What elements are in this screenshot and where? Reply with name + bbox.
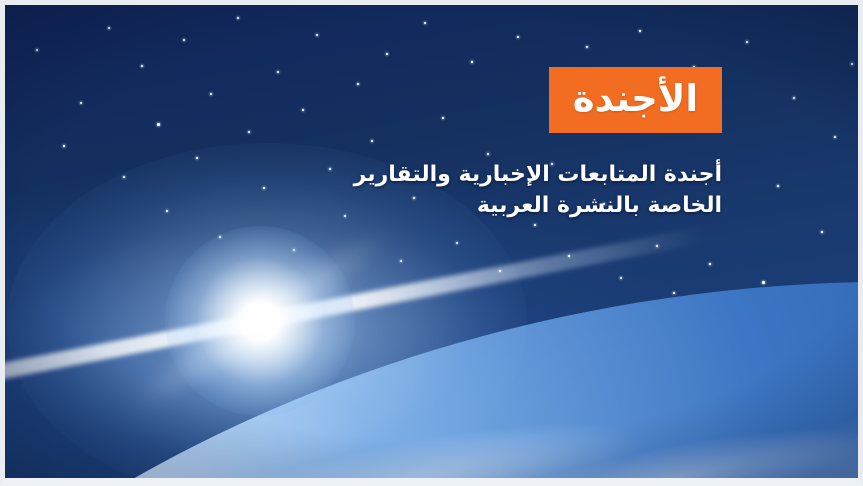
page-title: الأجندة [549,67,722,133]
banner-frame-inner: الأجندة أجندة المتابعات الإخبارية والتقا… [5,5,858,478]
agenda-banner: الأجندة أجندة المتابعات الإخبارية والتقا… [0,0,863,486]
subtitle-line-1: أجندة المتابعات الإخبارية والتقارير [282,159,722,190]
banner-subtitle: أجندة المتابعات الإخبارية والتقارير الخا… [282,159,722,221]
subtitle-line-2: الخاصة بالنشرة العربية [282,190,722,221]
banner-text-block: الأجندة أجندة المتابعات الإخبارية والتقا… [282,67,722,221]
